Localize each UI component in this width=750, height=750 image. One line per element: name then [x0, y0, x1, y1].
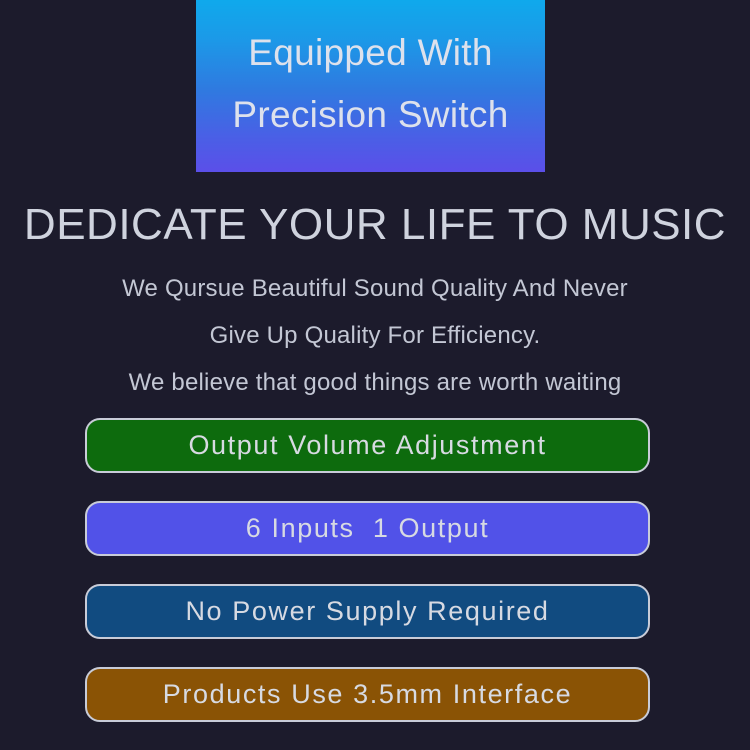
feature-button-label: Output Volume Adjustment	[188, 432, 546, 459]
feature-button-output-volume-adjustment[interactable]: Output Volume Adjustment	[85, 418, 650, 473]
banner-title-line-1: Equipped With	[248, 22, 493, 84]
feature-button-label: 6 Inputs 1 Output	[246, 515, 489, 542]
page-title: DEDICATE YOUR LIFE TO MUSIC	[0, 198, 750, 252]
feature-button-products-use-3-5mm-interface[interactable]: Products Use 3.5mm Interface	[85, 667, 650, 722]
tagline-line-3: We believe that good things are worth wa…	[0, 359, 750, 406]
feature-button-label: Products Use 3.5mm Interface	[163, 681, 572, 708]
tagline-line-2: Give Up Quality For Efficiency.	[0, 312, 750, 359]
header-banner: Equipped With Precision Switch	[196, 0, 545, 172]
banner-title-line-2: Precision Switch	[232, 84, 508, 146]
tagline-line-1: We Qursue Beautiful Sound Quality And Ne…	[0, 265, 750, 312]
feature-list: Output Volume Adjustment 6 Inputs 1 Outp…	[85, 418, 650, 722]
feature-button-6-inputs-1-output[interactable]: 6 Inputs 1 Output	[85, 501, 650, 556]
feature-button-label: No Power Supply Required	[185, 598, 549, 625]
tagline-paragraph: We Qursue Beautiful Sound Quality And Ne…	[0, 265, 750, 406]
product-feature-poster: Equipped With Precision Switch DEDICATE …	[0, 0, 750, 750]
feature-button-no-power-supply-required[interactable]: No Power Supply Required	[85, 584, 650, 639]
